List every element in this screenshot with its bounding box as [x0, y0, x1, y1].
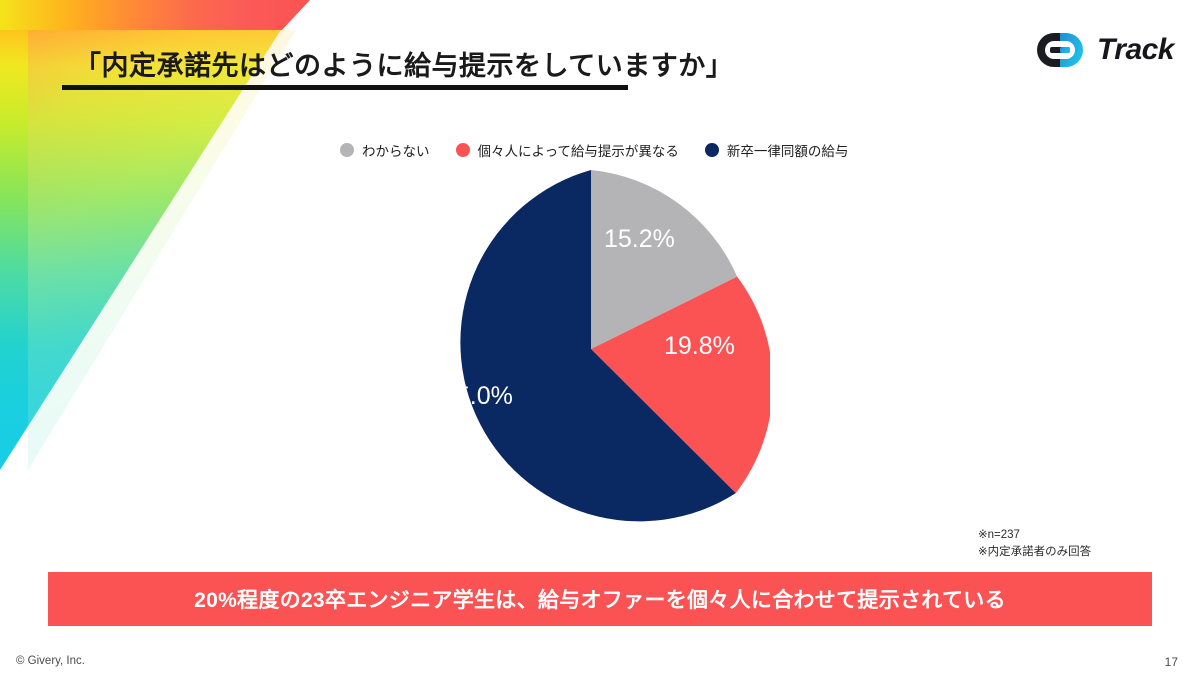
footer-page-number: 17 [1165, 655, 1178, 669]
chart-legend: わからない 個々人によって給与提示が異なる 新卒一律同額の給与 [340, 140, 848, 160]
ribbon-inner-wash [28, 30, 318, 470]
pie-label-individual: 19.8% [664, 332, 735, 361]
footer-copyright: © Givery, Inc. [16, 655, 85, 667]
title-underline [62, 85, 628, 90]
legend-swatch-icon [705, 143, 719, 157]
legend-item-individual: 個々人によって給与提示が異なる [456, 140, 679, 160]
note-respondent-scope: ※内定承諾者のみ回答 [978, 544, 1091, 561]
conclusion-banner: 20%程度の23卒エンジニア学生は、給与オファーを個々人に合わせて提示されている [48, 572, 1152, 626]
legend-item-wakaranai: わからない [340, 140, 430, 160]
pie-label-wakaranai: 15.2% [604, 225, 675, 254]
legend-label: 新卒一律同額の給与 [727, 140, 849, 160]
pie-chart: 15.2% 19.8% 65.0% [412, 170, 770, 528]
chart-notes: ※n=237 ※内定承諾者のみ回答 [978, 527, 1091, 560]
legend-label: わからない [362, 140, 430, 160]
brand-logo: Track [1034, 30, 1174, 70]
pie-label-uniform: 65.0% [442, 382, 513, 411]
legend-swatch-icon [340, 143, 354, 157]
ribbon-top-band [0, 0, 310, 30]
track-logo-icon [1034, 30, 1086, 70]
page-title: 「内定承諾先はどのように給与提示をしていますか」 [74, 44, 733, 83]
brand-name: Track [1097, 33, 1174, 67]
conclusion-banner-text: 20%程度の23卒エンジニア学生は、給与オファーを個々人に合わせて提示されている [194, 584, 1006, 614]
legend-swatch-icon [456, 143, 470, 157]
legend-item-uniform: 新卒一律同額の給与 [705, 140, 849, 160]
slide-canvas: 「内定承諾先はどのように給与提示をしていますか」 Track わから [0, 0, 1200, 675]
legend-label: 個々人によって給与提示が異なる [478, 140, 679, 160]
note-sample-size: ※n=237 [978, 527, 1091, 544]
